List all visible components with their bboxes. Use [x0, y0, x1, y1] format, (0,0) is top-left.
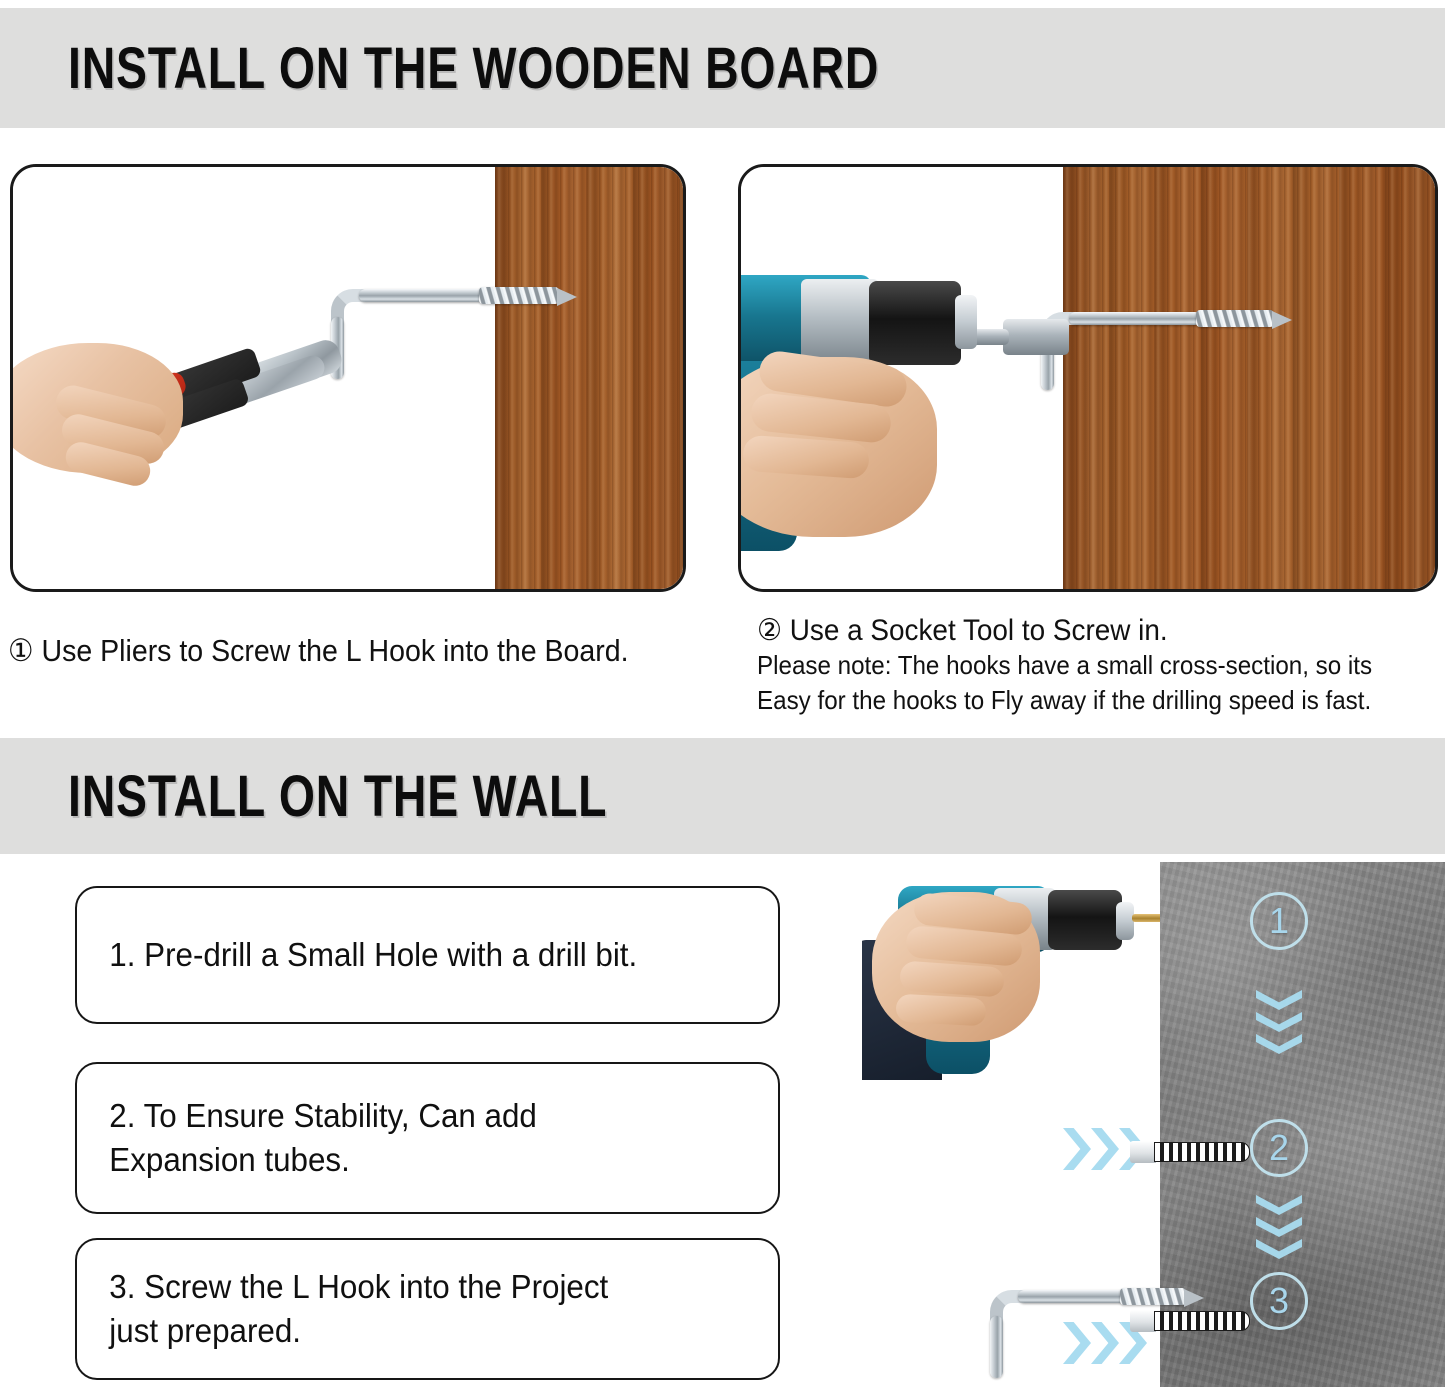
expansion-tube-icon	[1130, 1141, 1250, 1163]
step-box-3: 3. Screw the L Hook into the Project jus…	[75, 1238, 780, 1380]
socket-tool	[1003, 319, 1069, 355]
instruction-sheet: INSTALL ON THE WOODEN BOARD	[0, 0, 1445, 1387]
finger-4	[895, 994, 986, 1027]
caption-step-2: ② Use a Socket Tool to Screw in. Please …	[757, 613, 1418, 718]
caption-step-2-note-line-1: Please note: The hooks have a small cros…	[757, 648, 1372, 683]
photo-drill-wall	[862, 868, 1162, 1080]
wall-marker-2: 2	[1250, 1119, 1308, 1177]
chevron-down-icon	[1256, 990, 1302, 1064]
section-title-wall: INSTALL ON THE WALL	[68, 763, 607, 830]
wall-marker-1: 1	[1250, 892, 1308, 950]
caption-step-1: ① Use Pliers to Screw the L Hook into th…	[8, 633, 629, 669]
step-label-1: 1. Pre-drill a Small Hole with a drill b…	[77, 933, 652, 977]
step-box-1: 1. Pre-drill a Small Hole with a drill b…	[75, 886, 780, 1024]
caption-step-2-headline: ② Use a Socket Tool to Screw in.	[757, 613, 1372, 648]
step-box-2: 2. To Ensure Stability, Can add Expansio…	[75, 1062, 780, 1214]
step-label-3: 3. Screw the L Hook into the Project jus…	[77, 1265, 623, 1353]
section-header-wooden-board: INSTALL ON THE WOODEN BOARD	[0, 8, 1445, 128]
section-title-wooden-board: INSTALL ON THE WOODEN BOARD	[68, 35, 879, 102]
section-header-wall: INSTALL ON THE WALL	[0, 738, 1445, 854]
photo-panel-drill-socket	[738, 164, 1438, 592]
l-hook-icon	[1041, 312, 1281, 402]
chevron-down-icon	[1256, 1195, 1302, 1269]
pliers-scene	[13, 167, 683, 589]
wall-marker-3: 3	[1250, 1272, 1308, 1330]
drill-socket-scene	[741, 167, 1435, 589]
l-hook-icon	[990, 1290, 1190, 1386]
wall-surface: 1 2 3	[1160, 862, 1445, 1387]
l-hook-icon	[331, 289, 561, 387]
caption-step-2-note-line-2: Easy for the hooks to Fly away if the dr…	[757, 683, 1372, 718]
step-label-2: 2. To Ensure Stability, Can add Expansio…	[77, 1094, 552, 1182]
photo-panel-pliers	[10, 164, 686, 592]
